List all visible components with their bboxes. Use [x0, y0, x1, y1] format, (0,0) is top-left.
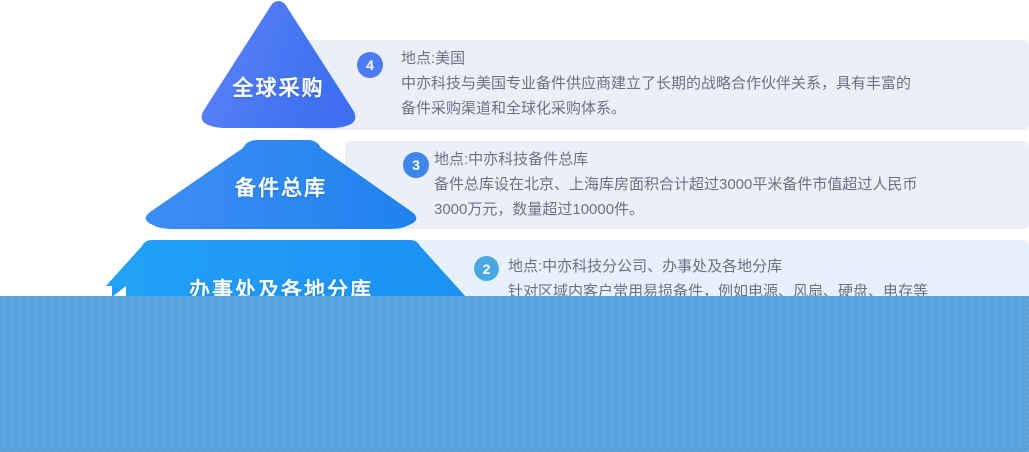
location-label-4: 地点:美国	[401, 46, 911, 71]
pyramid-tier-3-label: 备件总库	[140, 172, 422, 202]
step-badge-4[interactable]: 4	[357, 52, 383, 78]
tier-4-shape	[200, 0, 357, 128]
step-badge-2[interactable]: 2	[474, 256, 499, 281]
description-line-3-2: 3000万元，数量超过10000件。	[434, 197, 917, 222]
pyramid-tier-3[interactable]: 备件总库	[140, 140, 422, 229]
location-label-2: 地点:中亦科技分公司、办事处及各地分库	[508, 254, 928, 279]
description-block-3: 地点:中亦科技备件总库 备件总库设在北京、上海库房面积合计超过3000平米备件市…	[434, 147, 917, 222]
description-block-4: 地点:美国 中亦科技与美国专业备件供应商建立了长期的战略合作伙伴关系，具有丰富的…	[401, 46, 911, 121]
diagram-canvas: 办事处及各地分库 备件总库	[0, 0, 1029, 452]
bottom-overlay-panel	[0, 296, 1029, 452]
location-label-3: 地点:中亦科技备件总库	[434, 147, 917, 172]
description-line-3-1: 备件总库设在北京、上海库房面积合计超过3000平米备件市值超过人民币	[434, 172, 917, 197]
pyramid-tier-4-label: 全球采购	[200, 72, 357, 102]
step-badge-3[interactable]: 3	[403, 152, 429, 178]
description-line-4-2: 备件采购渠道和全球化采购体系。	[401, 96, 911, 121]
pyramid-graphic: 办事处及各地分库 备件总库	[0, 0, 470, 310]
description-line-4-1: 中亦科技与美国专业备件供应商建立了长期的战略合作伙伴关系，具有丰富的	[401, 71, 911, 96]
pyramid-tier-4[interactable]: 全球采购	[200, 0, 357, 128]
